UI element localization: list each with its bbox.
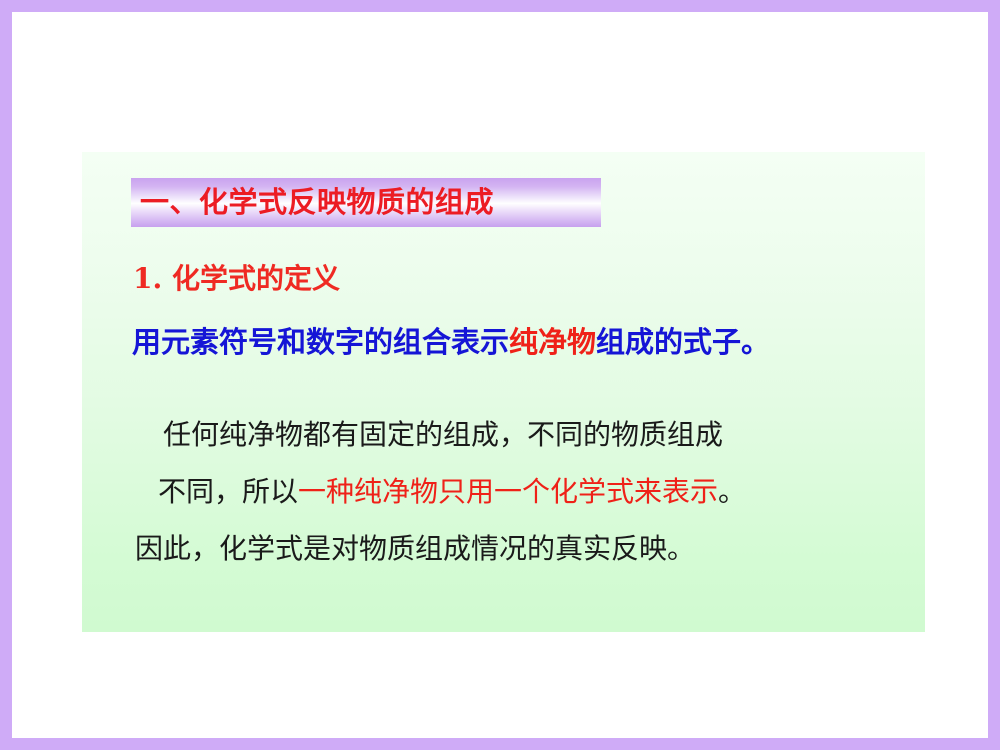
section-title-banner: 一、化学式反映物质的组成: [131, 178, 601, 227]
definition-sentence: 用元素符号和数字的组合表示纯净物组成的式子。: [132, 328, 770, 357]
paragraph-line-2-suffix: 。: [718, 475, 746, 508]
slide-frame: 一、化学式反映物质的组成 1. 化学式的定义 用元素符号和数字的组合表示纯净物组…: [0, 0, 1000, 750]
section-title-text: 一、化学式反映物质的组成: [140, 188, 494, 217]
paragraph-line-3: 因此，化学式是对物质组成情况的真实反映。: [135, 535, 695, 563]
paragraph-line-2-highlight: 一种纯净物只用一个化学式来表示: [298, 475, 718, 508]
slide-canvas: 一、化学式反映物质的组成 1. 化学式的定义 用元素符号和数字的组合表示纯净物组…: [12, 12, 988, 738]
definition-part-2: 组成的式子。: [596, 325, 770, 359]
definition-part-1: 用元素符号和数字的组合表示: [132, 325, 509, 359]
subheading-definition-label: 1. 化学式的定义: [133, 265, 340, 293]
paragraph-line-2-prefix: 不同，所以: [158, 475, 298, 508]
definition-highlight: 纯净物: [509, 325, 596, 359]
paragraph-line-2: 不同，所以一种纯净物只用一个化学式来表示。: [158, 478, 746, 506]
paragraph-line-1: 任何纯净物都有固定的组成，不同的物质组成: [163, 421, 723, 449]
